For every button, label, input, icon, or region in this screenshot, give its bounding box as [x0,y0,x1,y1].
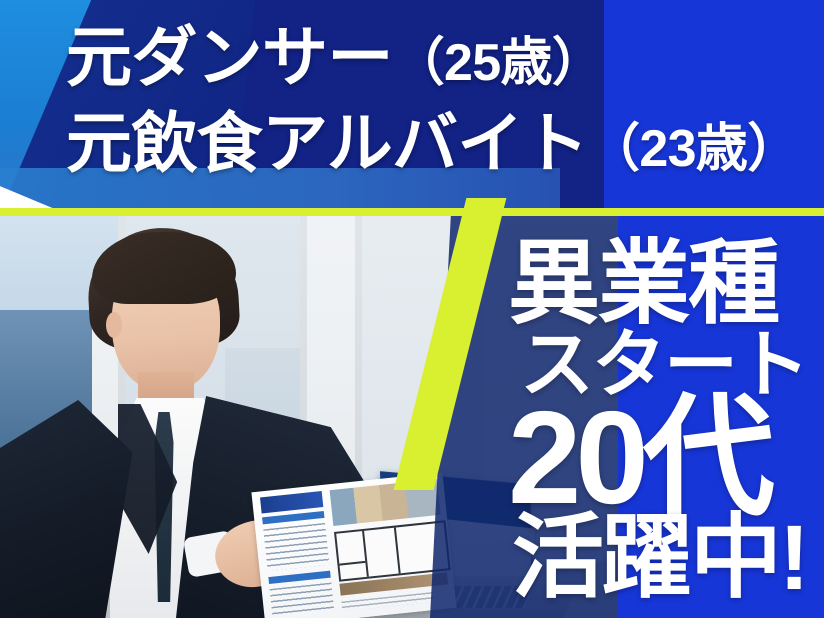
banner-bright-blue-layer [604,0,824,214]
headline-line-1-role: 元ダンサー [66,20,393,94]
callout-line-3: 20代 [508,392,769,524]
ear [106,312,122,338]
brochure-band-1 [262,511,324,524]
lime-divider-rule [0,208,824,216]
brochure-text-lines-2 [270,583,334,615]
hair-fringe [92,232,236,304]
brochure-title-block [260,491,323,513]
callout-line-4: 活躍中! [512,512,807,604]
headline-line-1-age: （25歳） [393,34,604,92]
recruitment-banner: 元ダンサー（25歳） 元飲食アルバイト（23歳） 異業種 スタート 20代 活躍… [0,0,824,618]
brochure-band-2 [268,571,330,584]
headline-line-2: 元飲食アルバイト（23歳） [66,110,799,176]
callout-line-1: 異業種 [508,238,778,330]
brochure-text-lines-1 [263,523,329,571]
headline-line-1: 元ダンサー（25歳） [66,24,603,90]
brochure-footer-lines [341,592,434,612]
property-brochure [251,472,456,618]
headline-line-2-age: （23歳） [588,120,799,178]
headline-line-2-role: 元飲食アルバイト [66,106,588,180]
